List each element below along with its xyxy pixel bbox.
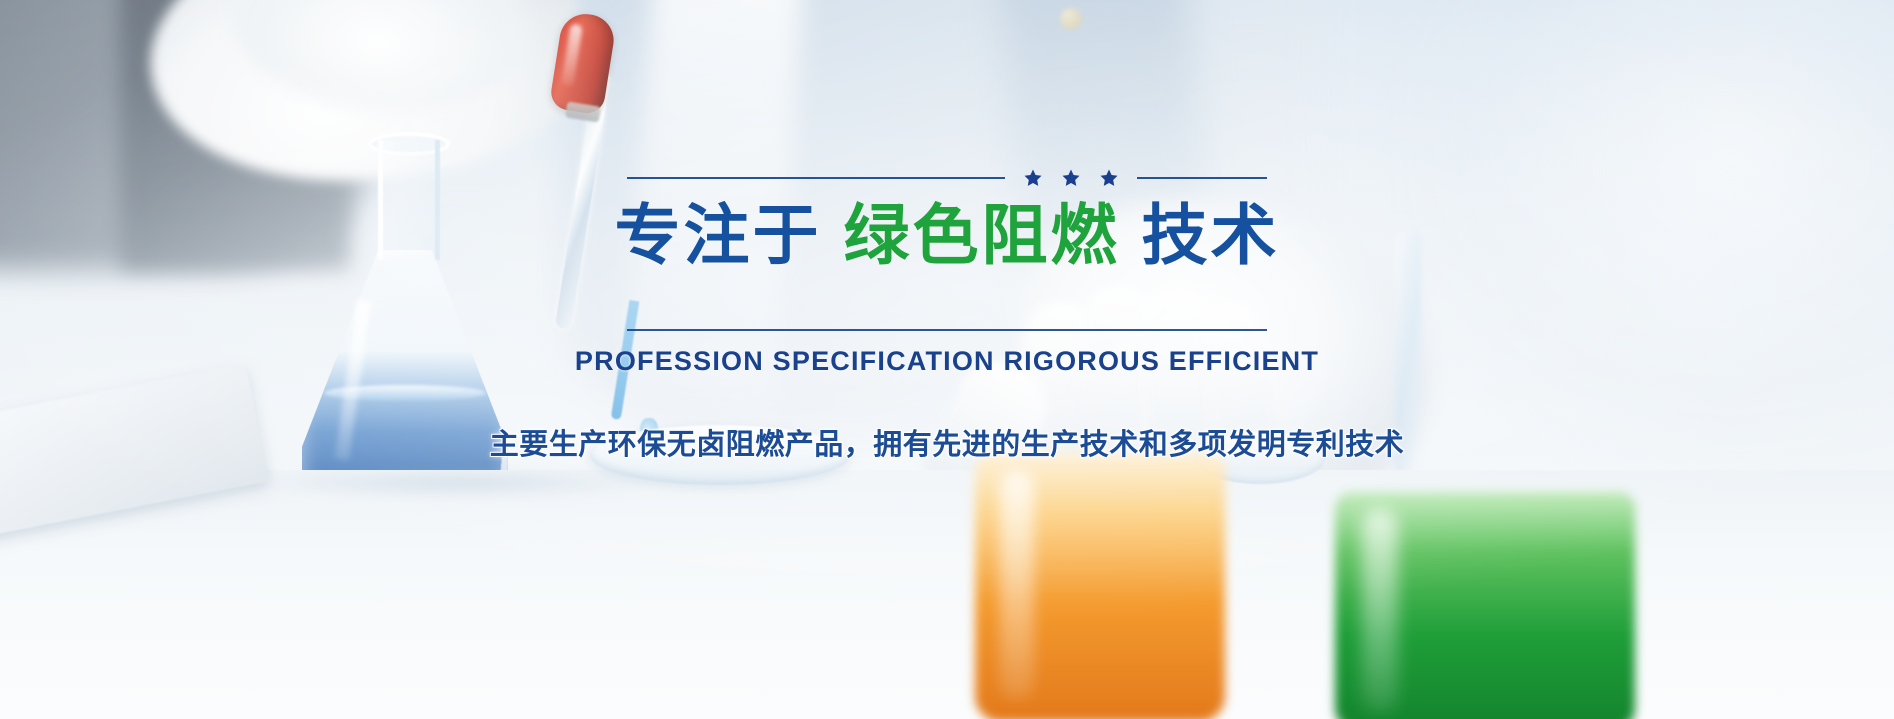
english-subtitle: PROFESSION SPECIFICATION RIGOROUS EFFICI… bbox=[575, 346, 1319, 377]
divider-line-left bbox=[627, 177, 1005, 179]
headline-part-technology: 技术 bbox=[1142, 197, 1280, 274]
headline-underline bbox=[627, 329, 1267, 331]
star-icon bbox=[1099, 168, 1119, 188]
star-icon bbox=[1023, 168, 1043, 188]
divider-line-right bbox=[1137, 177, 1267, 179]
star-divider bbox=[627, 168, 1267, 188]
hero-banner: 专注于绿色阻燃技术 PROFESSION SPECIFICATION RIGOR… bbox=[0, 0, 1894, 719]
headline-part-focus: 专注于 bbox=[615, 197, 822, 274]
star-group bbox=[1019, 168, 1123, 188]
star-icon bbox=[1061, 168, 1081, 188]
headline: 专注于绿色阻燃技术 bbox=[615, 202, 1280, 271]
headline-part-green-flame-retardant: 绿色阻燃 bbox=[844, 197, 1120, 274]
banner-content: 专注于绿色阻燃技术 PROFESSION SPECIFICATION RIGOR… bbox=[0, 0, 1894, 719]
description-text: 主要生产环保无卤阻燃产品，拥有先进的生产技术和多项发明专利技术 bbox=[490, 421, 1405, 463]
